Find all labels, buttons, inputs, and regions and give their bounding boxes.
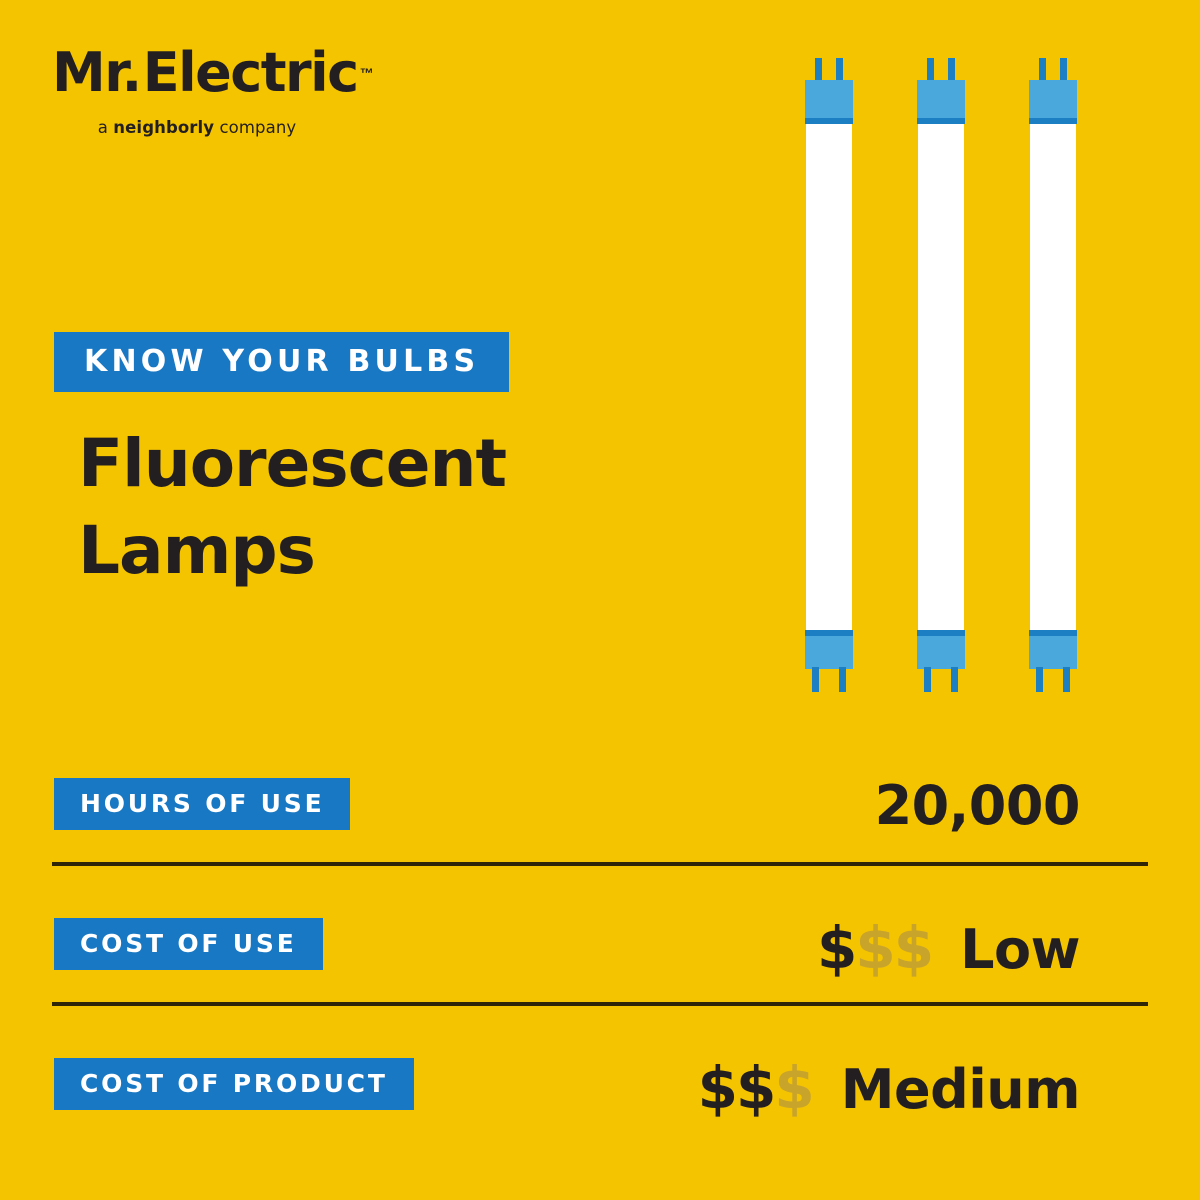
fluorescent-tubes-illustration (800, 58, 1090, 698)
spec-row-cost-of-product: COST OF PRODUCT $$$ Medium (0, 1058, 1200, 1144)
tagline-suffix: company (214, 118, 296, 137)
dollar-filled-icon: $ (698, 1054, 736, 1122)
page-title: Fluorescent Lamps (78, 420, 638, 594)
tube-bottom-pin-right (951, 667, 958, 692)
tube-bottom-pin-right (1063, 667, 1070, 692)
row-divider (52, 862, 1148, 866)
tagline-prefix: a (98, 118, 114, 137)
spec-value-text: Medium (841, 1058, 1080, 1121)
tube-top-cap (805, 80, 853, 118)
spec-value-cost-of-use: $$$ Low (817, 914, 1080, 982)
tube-top-cap (1029, 80, 1077, 118)
logo-tagline: a neighborly company (58, 118, 336, 137)
fluorescent-tube (800, 58, 858, 690)
tube-bottom-cap (917, 636, 965, 669)
spec-label-cost-of-product: COST OF PRODUCT (54, 1058, 414, 1110)
tagline-brand: neighborly (113, 118, 214, 137)
tube-bottom-pin-left (924, 667, 931, 692)
spec-row-cost-of-use: COST OF USE $$$ Low (0, 918, 1200, 1004)
dollar-filled-icon: $ (817, 914, 855, 982)
brand-logo: Mr. Electric ™ a neighborly company (52, 42, 352, 137)
dollar-empty-icon: $ (774, 1054, 812, 1122)
logo-mr-text: Mr. (52, 46, 141, 100)
tube-bottom-pin-left (1036, 667, 1043, 692)
spec-value-text: Low (960, 918, 1080, 981)
tube-bottom-cap (1029, 636, 1077, 669)
spec-value-hours-of-use: 20,000 (875, 774, 1080, 837)
fluorescent-tube (912, 58, 970, 690)
dollar-filled-icon: $ (736, 1054, 774, 1122)
spec-value-text: 20,000 (875, 774, 1080, 837)
cost-rating-dollars: $$$ (698, 1054, 813, 1122)
page-title-line-2: Lamps (78, 507, 638, 594)
tube-glass-body (806, 124, 852, 630)
logo-wordmark: Mr. Electric ™ (52, 42, 352, 104)
logo-electric-text: Electric (143, 46, 358, 100)
logo-trademark: ™ (360, 66, 374, 80)
cost-rating-dollars: $$$ (817, 914, 932, 982)
tube-bottom-pin-left (812, 667, 819, 692)
tube-bottom-pin-right (839, 667, 846, 692)
tube-glass-body (1030, 124, 1076, 630)
spec-label-hours-of-use: HOURS OF USE (54, 778, 350, 830)
fluorescent-tube (1024, 58, 1082, 690)
tube-top-cap (917, 80, 965, 118)
page-title-line-1: Fluorescent (78, 420, 638, 507)
spec-value-cost-of-product: $$$ Medium (698, 1054, 1080, 1122)
infographic-canvas: Mr. Electric ™ a neighborly company (0, 0, 1200, 1200)
tube-glass-body (918, 124, 964, 630)
tube-bottom-cap (805, 636, 853, 669)
row-divider (52, 1002, 1148, 1006)
spec-row-hours-of-use: HOURS OF USE 20,000 (0, 778, 1200, 864)
dollar-empty-icon: $ (894, 914, 932, 982)
dollar-empty-icon: $ (855, 914, 893, 982)
spec-label-cost-of-use: COST OF USE (54, 918, 323, 970)
kicker-badge: KNOW YOUR BULBS (54, 332, 509, 392)
